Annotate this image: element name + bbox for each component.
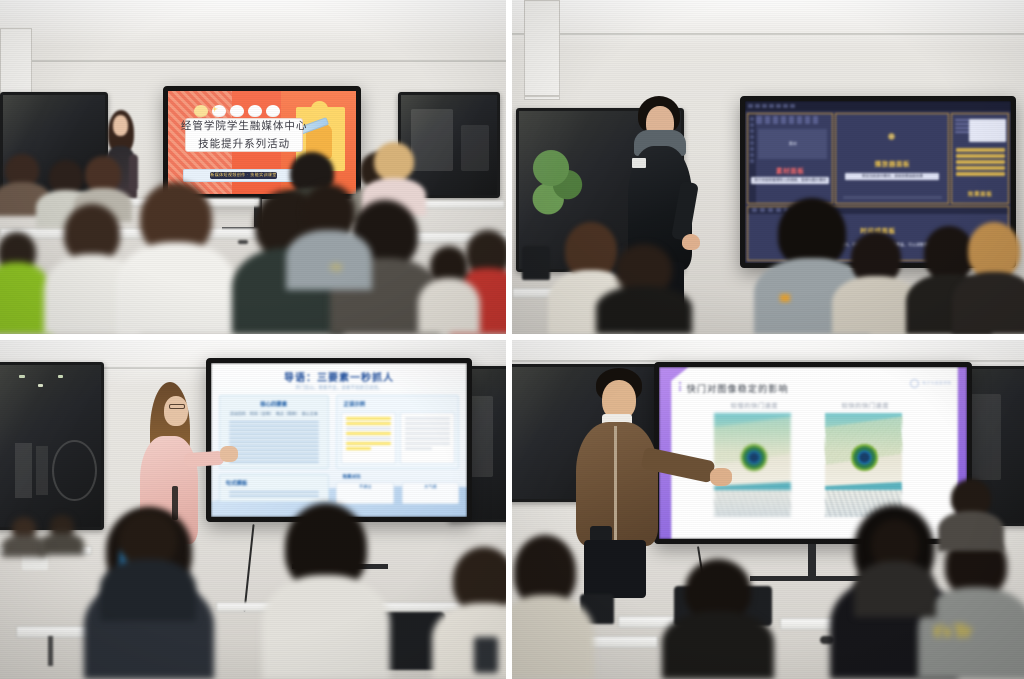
audience-shoulders xyxy=(512,595,594,679)
audience-shoulders xyxy=(952,272,1024,334)
audience-head xyxy=(374,142,414,180)
grass-foreground xyxy=(714,490,791,517)
display-stand-pole xyxy=(808,544,816,580)
classroom-scene-4: 快门对图像稳定的影响 电子与信息学院 较慢的快门速度 较快的快门速度 xyxy=(512,340,1024,679)
slide-screen-3: 导语：三要素一秒抓人 开门见山，要素齐全，读者不划走已读完。 核心四要素 活动目… xyxy=(211,363,467,517)
tool-icon[interactable] xyxy=(750,147,754,151)
menu-item[interactable] xyxy=(790,104,795,108)
tool-icon[interactable] xyxy=(750,135,754,139)
menu-item[interactable] xyxy=(762,104,767,108)
example-card-good xyxy=(400,412,455,464)
slide-title: 快门对图像稳定的影响 xyxy=(687,382,789,395)
slide-heart-row xyxy=(194,104,288,117)
menu-item[interactable] xyxy=(755,104,760,108)
slide-subtitle: 开门见山，要素齐全，读者不划走已读完。 xyxy=(211,385,467,391)
audience-person xyxy=(418,244,480,334)
toolbar-icon[interactable] xyxy=(765,116,770,124)
desk-item xyxy=(780,294,790,302)
wall-seam xyxy=(0,60,506,62)
editor-panels-row: 素材 素材面板 用于存放和管理导入的视频、音频与图片素材 播放器面板 xyxy=(745,111,1011,206)
section-meta: 活动目的 时间（全称） 地点（简称） 核心主体 xyxy=(220,411,328,417)
presenter-hand xyxy=(682,234,700,250)
audience-person xyxy=(512,537,594,679)
toolbar-icon[interactable] xyxy=(781,116,786,124)
audience-shoulders xyxy=(854,561,936,617)
effects-text-lines xyxy=(956,148,1005,176)
audience-shoulders xyxy=(116,242,236,334)
illustration-head xyxy=(311,101,327,117)
logo-text: 电子与信息学院 xyxy=(922,381,951,386)
menu-item[interactable] xyxy=(748,104,753,108)
effects-preview-box xyxy=(969,119,1006,142)
audience-head xyxy=(85,156,121,192)
section-heading: 正误示例 xyxy=(343,400,458,408)
presenter-hand-pointing xyxy=(220,446,238,462)
presenter-head xyxy=(164,396,188,426)
tool-icon[interactable] xyxy=(750,153,754,157)
heart-icon xyxy=(266,105,280,118)
slide-section-examples: 正误示例 xyxy=(336,395,459,469)
audience-person xyxy=(100,517,196,621)
audience-person xyxy=(938,485,1004,551)
slide-section-compare: 效果对比 不建议 大气感 xyxy=(336,474,459,502)
editor-player-panel: 播放器面板 预览当前选中素材，逐帧查看画面效果 xyxy=(835,113,949,204)
heart-icon xyxy=(194,105,208,118)
audience-person xyxy=(40,519,84,555)
light-reflection xyxy=(19,375,25,378)
section-heading: 句式模板 xyxy=(226,479,328,487)
jacket-logo-patch xyxy=(632,158,646,168)
door-sill xyxy=(524,96,560,100)
compare-label-left: 不建议 xyxy=(337,484,393,490)
poster-circle-reflection xyxy=(52,440,97,502)
slide-document: 导语：三要素一秒抓人 开门见山，要素齐全，读者不划走已读完。 核心四要素 活动目… xyxy=(211,363,467,517)
classroom-scene-2: 素材 素材面板 用于存放和管理导入的视频、音频与图片素材 播放器面板 xyxy=(512,0,1024,334)
light-reflection xyxy=(38,384,43,387)
editor-tool-strip xyxy=(748,114,756,203)
audience-shoulders xyxy=(40,533,84,555)
ceiling-highlight xyxy=(0,0,506,47)
collage-panel-bottom-right: 快门对图像稳定的影响 电子与信息学院 较慢的快门速度 较快的快门速度 xyxy=(509,337,1024,679)
editor-label-player: 播放器面板 xyxy=(836,158,948,168)
presenter-body-brown-jacket xyxy=(576,422,658,546)
audience-shoulders xyxy=(286,230,372,290)
ceiling-highlight xyxy=(512,0,1024,47)
compare-cards: 不建议 大气感 xyxy=(336,482,459,504)
photo-collage: 经管学院学生融媒体中心 技能提升系列活动 新媒体短视频创作 · 技能实训课堂 xyxy=(0,0,1024,679)
audience-shoulders xyxy=(418,278,480,334)
poster-banner-reflection xyxy=(15,443,31,498)
tool-icon[interactable] xyxy=(750,159,754,163)
reflection-shape-2 xyxy=(461,125,490,171)
audience-person xyxy=(662,565,774,679)
slide-title: 导语：三要素一秒抓人 xyxy=(211,369,467,384)
hoodie-lettering: t's Tr xyxy=(934,621,971,643)
collage-panel-bottom-left: 导语：三要素一秒抓人 开门见山，要素齐全，读者不划走已读完。 核心四要素 活动目… xyxy=(0,337,509,679)
toolbar-icon[interactable] xyxy=(813,116,818,124)
editor-label-effects: 效果面板 xyxy=(952,190,1008,198)
section-paragraph xyxy=(229,421,319,463)
audience-person xyxy=(262,509,390,679)
collage-panel-top-right: 素材 素材面板 用于存放和管理导入的视频、音频与图片素材 播放器面板 xyxy=(509,0,1024,337)
audience-person-yellow-text: ry xyxy=(286,192,372,290)
heart-icon xyxy=(230,105,244,118)
audience-person xyxy=(952,226,1024,334)
audience-head xyxy=(968,222,1020,278)
smartphone xyxy=(474,637,498,673)
classroom-scene-3: 导语：三要素一秒抓人 开门见山，要素齐全，读者不划走已读完。 核心四要素 活动目… xyxy=(0,340,506,679)
compare-card-left: 不建议 xyxy=(336,482,394,504)
tool-icon[interactable] xyxy=(750,123,754,127)
heart-icon xyxy=(248,105,262,118)
player-scrubber[interactable] xyxy=(843,196,942,199)
toolbar-icon[interactable] xyxy=(789,116,794,124)
jacket-zipper xyxy=(614,426,617,542)
tool-icon[interactable] xyxy=(750,117,754,121)
menu-item[interactable] xyxy=(783,104,788,108)
slide-title-line2: 技能提升系列活动 xyxy=(198,136,290,151)
glasses-icon xyxy=(169,404,185,409)
example-cards xyxy=(341,412,455,464)
slide-photo-left xyxy=(714,413,791,516)
menu-item[interactable] xyxy=(776,104,781,108)
audience-shoulders xyxy=(662,611,774,679)
audience-shoulders xyxy=(262,575,390,679)
tool-icon[interactable] xyxy=(750,141,754,145)
editor-toolbar xyxy=(756,116,829,124)
slide-caption-left: 较慢的快门速度 xyxy=(708,401,800,410)
door-frame xyxy=(0,28,32,98)
toolbar-icon[interactable] xyxy=(773,116,778,124)
toolbar-icon[interactable] xyxy=(756,116,761,124)
editor-desc-media: 用于存放和管理导入的视频、音频与图片素材 xyxy=(751,177,829,184)
editor-menu-bar xyxy=(745,101,1011,111)
plant-reflection xyxy=(529,139,584,221)
section-paragraph xyxy=(229,491,319,497)
audience-shoulders xyxy=(596,286,692,334)
chair xyxy=(522,246,550,280)
slide-title-line1: 经管学院学生融媒体中心 xyxy=(181,118,308,133)
slide-banner-pill: 新媒体短视频创作 · 技能实训课堂 xyxy=(210,172,276,178)
audience-person xyxy=(596,252,692,334)
presenter-arm xyxy=(184,451,225,468)
editor-label-media: 素材面板 xyxy=(748,165,832,175)
audience-person xyxy=(116,192,236,334)
slide-section-template: 句式模板 xyxy=(219,474,329,502)
slide-photo-right xyxy=(825,413,902,516)
toolbar-icon[interactable] xyxy=(805,116,810,124)
slide-title-box: 经管学院学生融媒体中心 技能提升系列活动 xyxy=(185,118,303,152)
poster-banner-reflection xyxy=(36,446,48,495)
audience-person xyxy=(854,525,936,617)
logo-ring-icon xyxy=(910,379,919,388)
presenter-hand-pointing xyxy=(710,468,732,486)
wall-seam xyxy=(512,33,1024,35)
side-display-left xyxy=(0,362,104,530)
light-reflection xyxy=(58,375,63,378)
compare-card-right: 大气感 xyxy=(402,482,460,504)
heart-icon xyxy=(212,105,226,118)
peacock-eye xyxy=(851,444,877,470)
editor-media-panel: 素材 素材面板 用于存放和管理导入的视频、音频与图片素材 xyxy=(747,113,833,204)
presenter-head xyxy=(113,115,128,136)
hoodie-lettering: ry xyxy=(331,259,342,274)
door-frame xyxy=(524,0,560,96)
slide-caption-right: 较快的快门速度 xyxy=(819,401,911,410)
editor-desc-player: 预览当前选中素材，逐帧查看画面效果 xyxy=(845,173,939,180)
compare-label-right: 大气感 xyxy=(403,484,459,490)
main-display-3: 导语：三要素一秒抓人 开门见山，要素齐全，读者不划走已读完。 核心四要素 活动目… xyxy=(206,358,472,522)
collage-panel-top-left: 经管学院学生融媒体中心 技能提升系列活动 新媒体短视频创作 · 技能实训课堂 xyxy=(0,0,509,337)
toolbar-icon[interactable] xyxy=(797,116,802,124)
audience-shoulders xyxy=(938,511,1004,551)
desk-leg xyxy=(48,636,53,666)
menu-item[interactable] xyxy=(769,104,774,108)
editor-effects-panel: 效果面板 xyxy=(951,113,1009,204)
player-highlight-dot xyxy=(888,133,895,140)
institution-logo: 电子与信息学院 xyxy=(910,379,951,388)
tool-icon[interactable] xyxy=(750,129,754,133)
example-card-bad xyxy=(341,412,396,464)
classroom-scene-1: 经管学院学生融媒体中心 技能提升系列活动 新媒体短视频创作 · 技能实训课堂 xyxy=(0,0,506,334)
slide-banner-text: 新媒体短视频创作 · 技能实训课堂 xyxy=(210,172,276,178)
editor-media-thumb: 素材 xyxy=(758,129,827,159)
peacock-eye xyxy=(741,444,767,470)
section-heading: 效果对比 xyxy=(342,474,459,480)
audience-shoulders xyxy=(100,559,196,621)
section-heading: 核心四要素 xyxy=(220,400,328,408)
